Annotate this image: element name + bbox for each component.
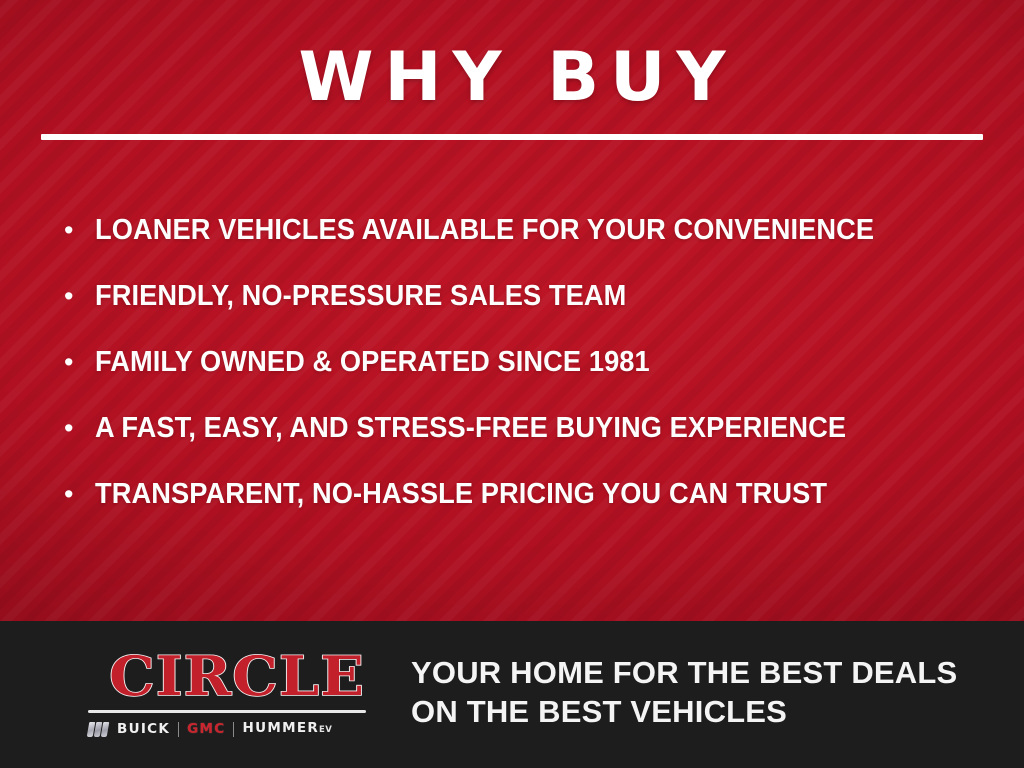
- list-item: • LOANER VEHICLES AVAILABLE FOR YOUR CON…: [64, 215, 984, 281]
- buick-trishield-icon: [88, 722, 108, 737]
- list-item-label: TRANSPARENT, NO-HASSLE PRICING YOU CAN T…: [95, 479, 944, 509]
- brand-hummer-ev-suffix: EV: [319, 725, 332, 735]
- slide-canvas: WHY BUY • LOANER VEHICLES AVAILABLE FOR …: [0, 0, 1024, 768]
- list-item: • TRANSPARENT, NO-HASSLE PRICING YOU CAN…: [64, 479, 984, 545]
- hero-panel: WHY BUY • LOANER VEHICLES AVAILABLE FOR …: [0, 0, 1024, 621]
- brand-label-gmc: GMC: [187, 722, 225, 737]
- dealer-logo[interactable]: CIRCLE BUICK GMC HUMMEREV: [86, 649, 371, 739]
- logo-wordmark: CIRCLE: [86, 649, 388, 703]
- tagline-line-2: ON THE BEST VEHICLES: [411, 692, 957, 731]
- logo-divider-rule: [88, 710, 366, 713]
- footer-bar: CIRCLE BUICK GMC HUMMEREV YOUR HOME FOR …: [0, 621, 1024, 768]
- footer-tagline: YOUR HOME FOR THE BEST DEALS ON THE BEST…: [411, 653, 957, 731]
- brand-hummer-text: HUMMER: [242, 720, 319, 736]
- brand-strip: BUICK GMC HUMMEREV: [88, 719, 371, 739]
- list-item: • A FAST, EASY, AND STRESS-FREE BUYING E…: [64, 413, 984, 479]
- list-item-label: FRIENDLY, NO-PRESSURE SALES TEAM: [95, 281, 944, 311]
- brand-label-hummer: HUMMEREV: [242, 721, 332, 738]
- bullet-marker-icon: •: [64, 415, 95, 442]
- bullet-marker-icon: •: [64, 481, 95, 508]
- list-item-label: FAMILY OWNED & OPERATED SINCE 1981: [95, 347, 944, 377]
- page-title: WHY BUY: [0, 42, 1024, 114]
- list-item-label: A FAST, EASY, AND STRESS-FREE BUYING EXP…: [95, 413, 944, 443]
- brand-separator: [233, 722, 234, 737]
- list-item-label: LOANER VEHICLES AVAILABLE FOR YOUR CONVE…: [95, 215, 944, 245]
- bullet-marker-icon: •: [64, 283, 95, 310]
- bullet-marker-icon: •: [64, 217, 95, 244]
- brand-label-buick: BUICK: [117, 722, 170, 737]
- tagline-line-1: YOUR HOME FOR THE BEST DEALS: [411, 653, 957, 692]
- bullet-marker-icon: •: [64, 349, 95, 376]
- benefits-list: • LOANER VEHICLES AVAILABLE FOR YOUR CON…: [64, 215, 984, 545]
- list-item: • FAMILY OWNED & OPERATED SINCE 1981: [64, 347, 984, 413]
- title-divider-rule: [41, 134, 983, 140]
- brand-separator: [178, 722, 179, 737]
- list-item: • FRIENDLY, NO-PRESSURE SALES TEAM: [64, 281, 984, 347]
